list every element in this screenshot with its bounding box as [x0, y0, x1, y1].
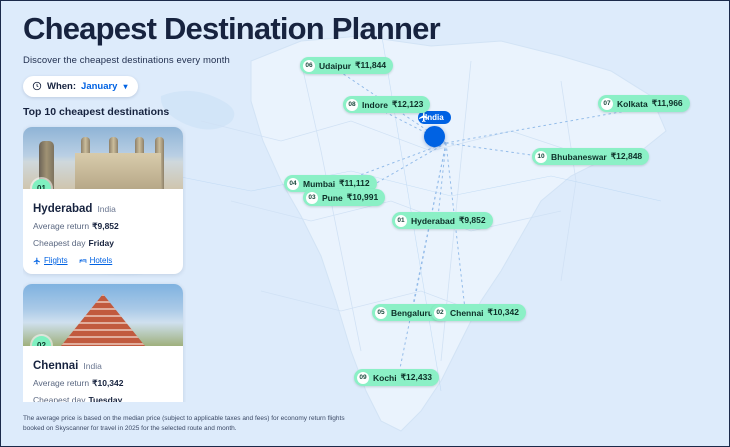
pin-label[interactable]: 02Chennai₹10,342 — [431, 304, 526, 321]
pin-price: ₹11,112 — [339, 178, 369, 189]
pin-city: Mumbai — [303, 179, 335, 189]
card-average-return-row: Average return₹10,342 — [33, 378, 173, 389]
pin-rank: 10 — [535, 151, 547, 163]
pin-price: ₹12,433 — [401, 372, 432, 383]
flights-link[interactable]: Flights — [33, 256, 68, 265]
pin-label[interactable]: 01Hyderabad₹9,852 — [392, 212, 493, 229]
pin-label[interactable]: 03Pune₹10,991 — [303, 189, 385, 206]
pin-price: ₹12,123 — [392, 99, 423, 110]
map-pin-chennai[interactable]: 02Chennai₹10,342 — [431, 304, 526, 321]
hotels-link[interactable]: Hotels — [79, 256, 113, 265]
footer-disclaimer: The average price is based on the median… — [23, 414, 353, 434]
pin-rank: 01 — [395, 215, 407, 227]
map-pin-pune[interactable]: 03Pune₹10,991 — [303, 189, 385, 206]
average-return-label: Average return — [33, 378, 89, 388]
airplane-icon — [424, 126, 445, 147]
average-return-value: ₹10,342 — [92, 378, 123, 388]
airplane-icon — [33, 257, 41, 265]
clock-icon — [32, 81, 42, 91]
card-photo: 01 — [23, 127, 183, 189]
month-filter-label: When: — [47, 81, 76, 92]
pin-city: Kochi — [373, 373, 397, 383]
pin-city: Chennai — [450, 308, 484, 318]
card-average-return-row: Average return₹9,852 — [33, 221, 173, 232]
pin-city: Bhubaneswar — [551, 152, 607, 162]
top-destinations-sidebar[interactable]: Top 10 cheapest destinations 01Hyderabad… — [23, 106, 186, 402]
hyderabad-charminar-photo — [23, 127, 183, 189]
pin-rank: 09 — [357, 372, 369, 384]
map-pin-bhubaneswar[interactable]: 10Bhubaneswar₹12,848 — [532, 148, 649, 165]
pin-label[interactable]: 08Indore₹12,123 — [343, 96, 430, 113]
card-country: India — [97, 204, 115, 214]
cheapest-day-label: Cheapest day — [33, 395, 85, 402]
page-title: Cheapest Destination Planner — [23, 13, 730, 46]
page-header: Cheapest Destination Planner Discover th… — [1, 1, 730, 97]
hotels-link-label: Hotels — [90, 256, 113, 265]
pin-city: Kolkata — [617, 99, 648, 109]
pin-label[interactable]: 10Bhubaneswar₹12,848 — [532, 148, 649, 165]
pin-rank: 04 — [287, 178, 299, 190]
destination-card[interactable]: 02ChennaiIndiaAverage return₹10,342Cheap… — [23, 284, 183, 402]
cheapest-day-label: Cheapest day — [33, 238, 85, 248]
pin-price: ₹9,852 — [459, 215, 486, 226]
pin-rank: 05 — [375, 307, 387, 319]
pin-label[interactable]: 09Kochi₹12,433 — [354, 369, 439, 386]
map-hub-india[interactable]: India — [418, 111, 451, 147]
pin-rank: 08 — [346, 99, 358, 111]
pin-price: ₹11,966 — [652, 98, 683, 109]
cheapest-day-value: Tuesday — [88, 395, 122, 402]
card-body: HyderabadIndiaAverage return₹9,852Cheape… — [23, 189, 183, 274]
month-filter-dropdown[interactable]: When: January ▾ — [23, 76, 138, 97]
pin-price: ₹10,342 — [488, 307, 519, 318]
card-city-name: Chennai — [33, 360, 78, 372]
card-cheapest-day-row: Cheapest dayTuesday — [33, 395, 173, 402]
pin-price: ₹12,848 — [611, 151, 642, 162]
average-return-value: ₹9,852 — [92, 221, 119, 231]
destination-planner-app: India 06Udaipur₹11,84408Indore₹12,12307K… — [0, 0, 730, 447]
destination-card[interactable]: 01HyderabadIndiaAverage return₹9,852Chea… — [23, 127, 183, 274]
pin-rank: 02 — [434, 307, 446, 319]
pin-city: Bengaluru — [391, 308, 433, 318]
pin-rank: 07 — [601, 98, 613, 110]
chennai-temple-photo — [23, 284, 183, 346]
destination-card-list[interactable]: 01HyderabadIndiaAverage return₹9,852Chea… — [23, 127, 186, 402]
card-body: ChennaiIndiaAverage return₹10,342Cheapes… — [23, 346, 183, 402]
card-links[interactable]: FlightsHotels — [33, 256, 173, 265]
card-city-line: ChennaiIndia — [33, 360, 173, 372]
pin-rank: 03 — [306, 192, 318, 204]
pin-city: Indore — [362, 100, 388, 110]
card-city-line: HyderabadIndia — [33, 203, 173, 215]
map-pin-hyderabad[interactable]: 01Hyderabad₹9,852 — [392, 212, 493, 229]
pin-price: ₹10,991 — [347, 192, 378, 203]
map-pin-kochi[interactable]: 09Kochi₹12,433 — [354, 369, 439, 386]
card-photo: 02 — [23, 284, 183, 346]
chevron-down-icon: ▾ — [123, 82, 127, 91]
pin-city: Hyderabad — [411, 216, 455, 226]
pin-label[interactable]: 07Kolkata₹11,966 — [598, 95, 690, 112]
average-return-label: Average return — [33, 221, 89, 231]
card-country: India — [83, 361, 101, 371]
bed-icon — [79, 257, 87, 265]
pin-city: Pune — [322, 193, 343, 203]
map-pin-indore[interactable]: 08Indore₹12,123 — [343, 96, 430, 113]
month-filter-value: January — [81, 81, 117, 92]
card-city-name: Hyderabad — [33, 203, 92, 215]
card-cheapest-day-row: Cheapest dayFriday — [33, 238, 173, 248]
sidebar-title: Top 10 cheapest destinations — [23, 106, 186, 118]
flights-link-label: Flights — [44, 256, 68, 265]
map-pin-kolkata[interactable]: 07Kolkata₹11,966 — [598, 95, 690, 112]
cheapest-day-value: Friday — [88, 238, 114, 248]
page-subtitle: Discover the cheapest destinations every… — [23, 55, 730, 66]
